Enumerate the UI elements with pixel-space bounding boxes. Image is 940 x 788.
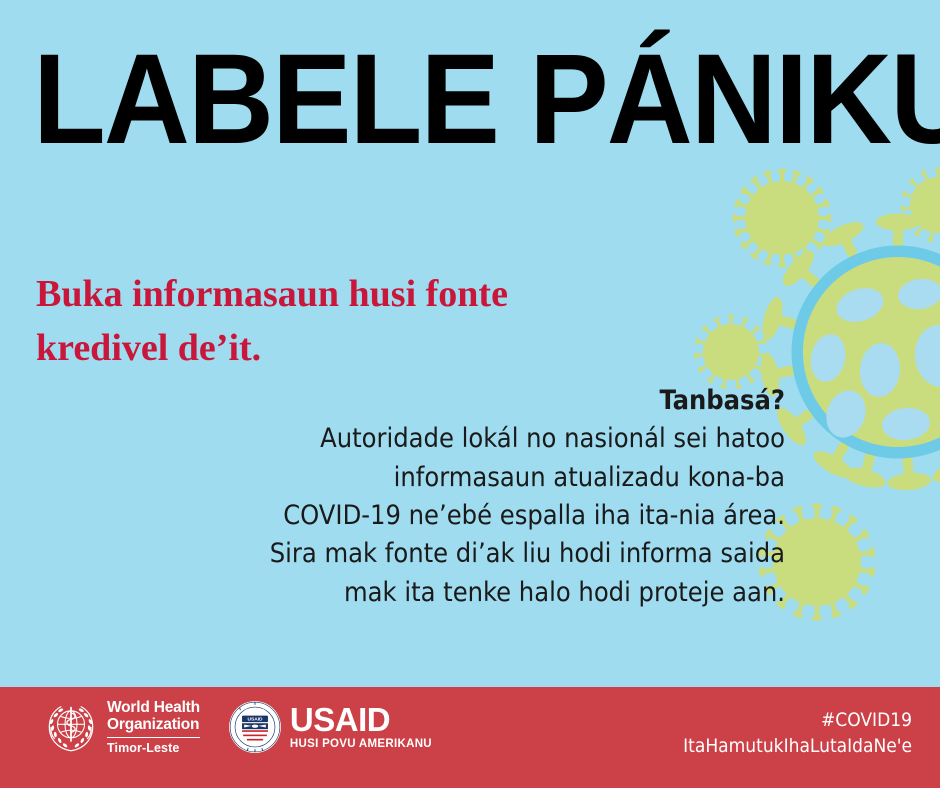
who-wordmark: World Health Organization Timor-Leste (107, 699, 200, 755)
usaid-tagline: HUSI POVU AMERIKANU (290, 738, 432, 750)
body-line: COVID-19 ne’ebé espalla iha ita-nia área… (145, 497, 785, 535)
subtitle-line-2: kredivel de’it. (36, 327, 261, 369)
virus-edge-topright (901, 168, 940, 242)
who-line-1: World Health (107, 699, 200, 716)
body-line: Sira mak fonte di’ak liu hodi informa sa… (145, 535, 785, 573)
svg-text:USAID: USAID (247, 717, 263, 723)
poster-subtitle: Buka informasaun husi fonte kredivel de’… (36, 268, 676, 376)
hashtag-campaign: ItaHamutukIhaLutaIdaNe'e (683, 733, 912, 759)
who-line-2: Organization (107, 716, 200, 733)
poster-footer: World Health Organization Timor-Leste (0, 687, 940, 788)
who-country: Timor-Leste (107, 737, 200, 755)
virus-large-right (758, 214, 940, 492)
who-emblem-icon (44, 700, 98, 754)
usaid-logo: USAID (228, 700, 432, 754)
covid-awareness-poster: LABELE PÁNIKU! Buka informasaun husi fon… (0, 0, 940, 788)
usaid-main-text: USAID (290, 704, 390, 735)
subtitle-line-1: Buka informasaun husi fonte (36, 273, 508, 315)
virus-small-top (733, 169, 831, 267)
hashtag-covid19: #COVID19 (683, 707, 912, 733)
usaid-seal-icon: USAID (228, 700, 282, 754)
body-question: Tanbasá? (145, 382, 785, 420)
poster-headline: LABELE PÁNIKU! (33, 36, 851, 164)
poster-body: Tanbasá? Autoridade lokál no nasionál se… (145, 382, 785, 612)
body-line: mak ita tenke halo hodi proteje aan. (145, 574, 785, 612)
who-logo: World Health Organization Timor-Leste (44, 699, 200, 755)
body-line: Autoridade lokál no nasionál sei hatoo (145, 420, 785, 458)
usaid-wordmark: USAID HUSI POVU AMERIKANU (290, 704, 432, 749)
virus-small-mid (694, 315, 769, 389)
footer-logo-group: World Health Organization Timor-Leste (44, 699, 432, 755)
footer-hashtags: #COVID19 ItaHamutukIhaLutaIdaNe'e (683, 707, 912, 759)
body-line: informasaun atualizadu kona-ba (145, 459, 785, 497)
